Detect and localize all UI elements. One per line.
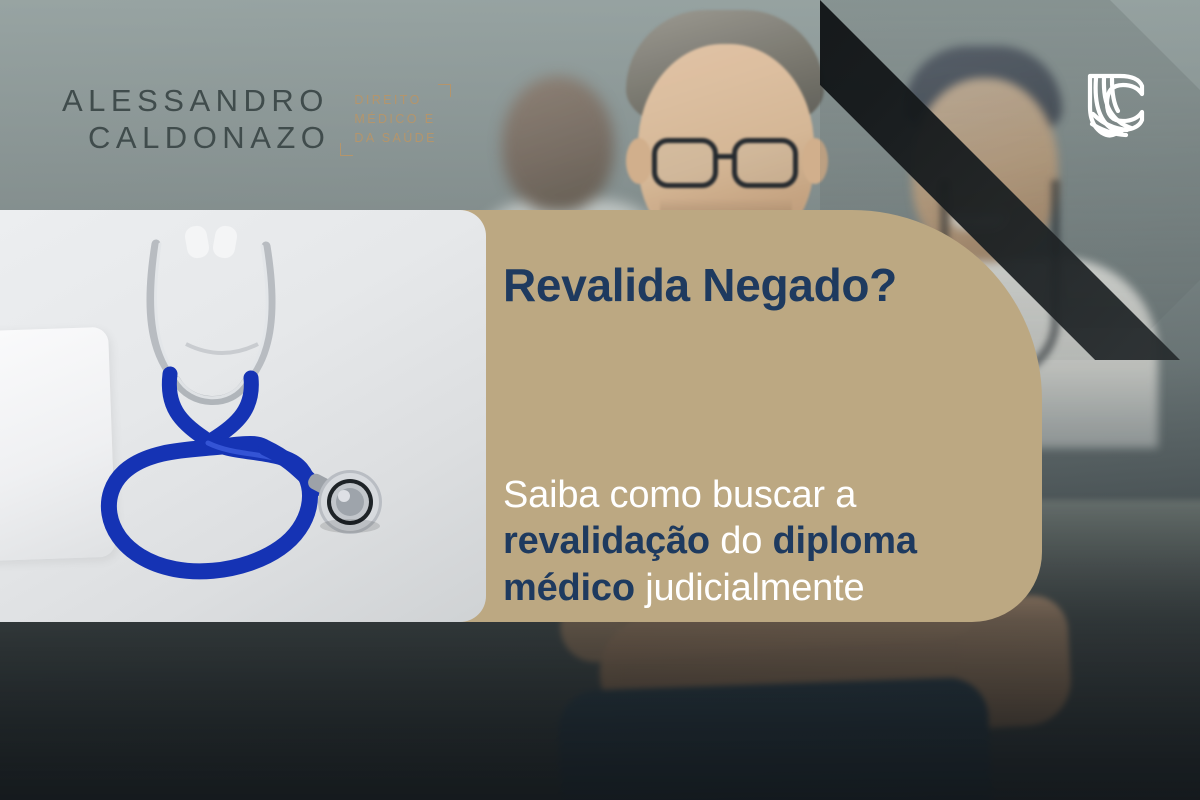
brand-logo[interactable]: ALESSANDRO CALDONAZO DIREITO MÉDICO E DA… xyxy=(62,84,447,155)
doctor-center-ear-right xyxy=(802,138,828,184)
bracket-top-right-icon xyxy=(438,84,451,97)
brand-tagline-line2: MÉDICO E xyxy=(354,110,436,129)
eyeglasses-left-lens-icon xyxy=(652,138,718,188)
subtitle-accent-medico: médico xyxy=(503,567,635,609)
subtitle-line2-do: do xyxy=(710,520,773,562)
doctor-center-ear-left xyxy=(626,138,652,184)
ac-monogram-icon[interactable] xyxy=(1076,62,1150,146)
subtitle-line1: Saiba como buscar a xyxy=(503,474,856,516)
subtitle-accent-revalidacao: revalidação xyxy=(503,520,710,562)
eyeglasses-right-lens-icon xyxy=(732,138,798,188)
brand-name-line2: CALDONAZO xyxy=(62,121,330,156)
eyeglasses-bridge-icon xyxy=(716,154,734,159)
subtitle-line3-judicialmente: judicialmente xyxy=(635,567,865,609)
bracket-bottom-left-icon xyxy=(340,143,353,156)
brand-name-line1: ALESSANDRO xyxy=(62,84,330,119)
brand-tagline-line3: DA SAÚDE xyxy=(354,129,436,148)
promo-banner: ALESSANDRO CALDONAZO DIREITO MÉDICO E DA… xyxy=(0,0,1200,800)
stethoscope-icon xyxy=(0,210,486,622)
brand-tagline-line1: DIREITO xyxy=(354,91,436,110)
brand-tagline: DIREITO MÉDICO E DA SAÚDE xyxy=(348,87,446,153)
brand-wordmark: ALESSANDRO CALDONAZO xyxy=(62,84,330,155)
page-title: Revalida Negado? xyxy=(503,258,897,312)
subtitle-accent-diploma: diploma xyxy=(773,520,917,562)
doctor-left-head xyxy=(502,76,614,212)
page-subtitle: Saiba como buscar a revalidação do diplo… xyxy=(503,472,917,611)
stethoscope-photo-panel xyxy=(0,210,486,622)
